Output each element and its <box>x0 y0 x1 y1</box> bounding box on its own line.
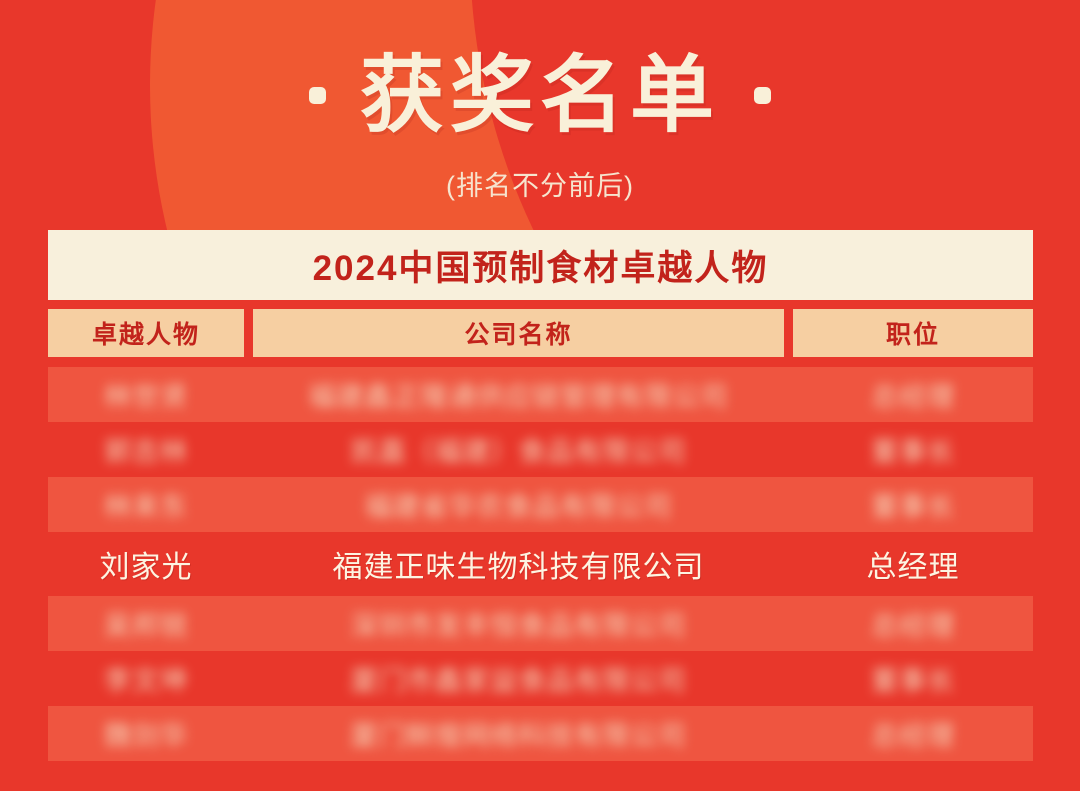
cell-position: 总经理 <box>793 532 1033 596</box>
award-table-body: 林世贤福建鑫正隆通供应链管理有限公司总经理郭吉林凯嘉（福建）食品有限公司董事长林… <box>48 367 1033 761</box>
cell-company: 凯嘉（福建）食品有限公司 <box>253 422 784 477</box>
page-title: 获奖名单 <box>360 53 720 137</box>
award-table-title: 2024中国预制食材卓越人物 <box>48 230 1033 300</box>
award-table: 2024中国预制食材卓越人物 卓越人物 公司名称 职位 林世贤福建鑫正隆通供应链… <box>48 230 1033 761</box>
bullet-dot-left-icon <box>309 87 326 104</box>
cell-name: 魏剑华 <box>48 706 244 761</box>
cell-name: 林来东 <box>48 477 244 532</box>
cell-position: 总经理 <box>793 596 1033 651</box>
cell-company: 厦门市鑫家益食品有限公司 <box>253 651 784 706</box>
table-row: 林世贤福建鑫正隆通供应链管理有限公司总经理 <box>48 367 1033 422</box>
cell-name: 吴邦锐 <box>48 596 244 651</box>
cell-company: 福建省华农食品有限公司 <box>253 477 784 532</box>
table-row: 李文坤厦门市鑫家益食品有限公司董事长 <box>48 651 1033 706</box>
page-subtitle: (排名不分前后) <box>0 164 1080 203</box>
poster-canvas: 获奖名单 (排名不分前后) 2024中国预制食材卓越人物 卓越人物 公司名称 职… <box>0 0 1080 791</box>
table-row: 林来东福建省华农食品有限公司董事长 <box>48 477 1033 532</box>
cell-position: 董事长 <box>793 651 1033 706</box>
table-row: 刘家光福建正味生物科技有限公司总经理 <box>48 532 1033 596</box>
column-header-company: 公司名称 <box>253 309 784 357</box>
table-row: 郭吉林凯嘉（福建）食品有限公司董事长 <box>48 422 1033 477</box>
cell-company: 福建正味生物科技有限公司 <box>253 532 784 596</box>
column-header-position: 职位 <box>793 309 1033 357</box>
cell-position: 董事长 <box>793 477 1033 532</box>
cell-company: 厦门鲜煌网络科技有限公司 <box>253 706 784 761</box>
cell-name: 林世贤 <box>48 367 244 422</box>
cell-position: 董事长 <box>793 422 1033 477</box>
table-row: 魏剑华厦门鲜煌网络科技有限公司总经理 <box>48 706 1033 761</box>
cell-position: 总经理 <box>793 367 1033 422</box>
column-header-name: 卓越人物 <box>48 309 244 357</box>
cell-name: 刘家光 <box>48 532 244 596</box>
cell-position: 总经理 <box>793 706 1033 761</box>
table-row: 吴邦锐深圳市发丰恒食品有限公司总经理 <box>48 596 1033 651</box>
cell-company: 深圳市发丰恒食品有限公司 <box>253 596 784 651</box>
cell-name: 郭吉林 <box>48 422 244 477</box>
title-row: 获奖名单 <box>0 40 1080 150</box>
poster-header: 获奖名单 (排名不分前后) <box>0 40 1080 203</box>
cell-name: 李文坤 <box>48 651 244 706</box>
award-table-header-row: 卓越人物 公司名称 职位 <box>48 309 1033 357</box>
bullet-dot-right-icon <box>754 87 771 104</box>
cell-company: 福建鑫正隆通供应链管理有限公司 <box>253 367 784 422</box>
